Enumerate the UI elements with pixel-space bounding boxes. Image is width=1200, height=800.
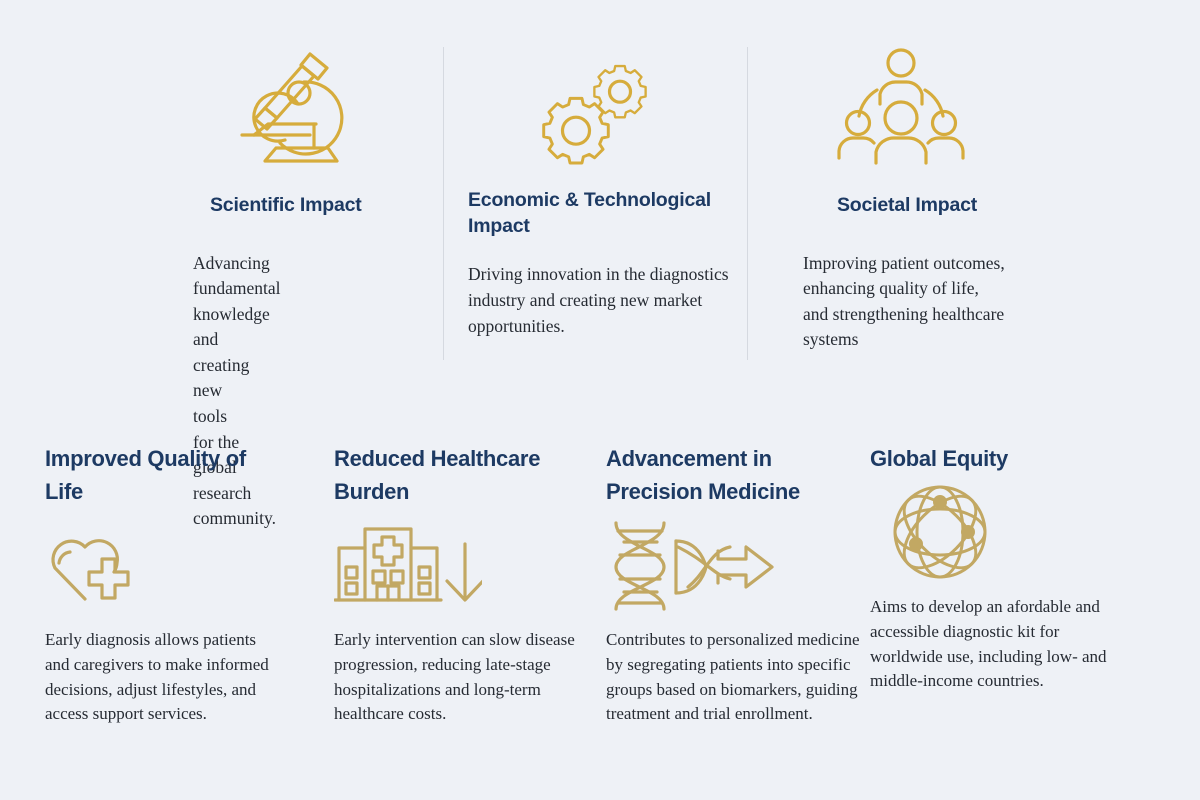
benefit-card-precision-medicine: Advancement in Precision Medicine: [573, 400, 855, 800]
benefit-body-global-equity: Aims to develop an afordable and accessi…: [870, 579, 1110, 694]
impact-column-societal: Societal Impact Improving patient outcom…: [748, 0, 1200, 400]
impact-column-scientific: Scientific Impact Advancing fundamental …: [0, 0, 444, 400]
benefit-title-precision-medicine: Advancement in Precision Medicine: [606, 442, 851, 508]
impact-body-societal: Improving patient outcomes, enhancing qu…: [748, 219, 1008, 353]
benefit-title-global-equity: Global Equity: [870, 442, 1110, 475]
top-impact-section: Scientific Impact Advancing fundamental …: [0, 0, 1200, 400]
benefit-body-precision-medicine: Contributes to personalized medicine by …: [606, 612, 868, 727]
dna-arrow-icon: [606, 508, 855, 612]
impact-title-scientific: Scientific Impact: [0, 166, 444, 219]
benefit-body-quality-of-life: Early diagnosis allows patients and care…: [45, 612, 277, 727]
benefit-body-healthcare-burden: Early intervention can slow disease prog…: [334, 612, 586, 727]
people-group-icon: [748, 46, 1200, 166]
hospital-down-arrow-icon: [334, 508, 573, 612]
impact-column-economic: Economic & Technological Impact Driving …: [444, 0, 748, 400]
globe-network-icon: [870, 475, 1155, 579]
impact-body-economic: Driving innovation in the diagnostics in…: [444, 239, 729, 339]
microscope-icon: [0, 46, 444, 166]
benefit-card-quality-of-life: Improved Quality of Life Early diagnosis…: [0, 400, 288, 800]
benefit-title-quality-of-life: Improved Quality of Life: [45, 442, 275, 508]
gears-icon: [444, 46, 748, 166]
impact-title-societal: Societal Impact: [748, 166, 1200, 219]
benefit-title-healthcare-burden: Reduced Healthcare Burden: [334, 442, 584, 508]
impact-title-economic: Economic & Technological Impact: [444, 166, 714, 239]
benefit-card-healthcare-burden: Reduced Healthcare Burden: [288, 400, 573, 800]
benefit-card-global-equity: Global Equity Aims to develop an afordab…: [855, 400, 1155, 800]
benefits-section: Improved Quality of Life Early diagnosis…: [0, 400, 1200, 800]
heart-plus-icon: [45, 508, 288, 612]
